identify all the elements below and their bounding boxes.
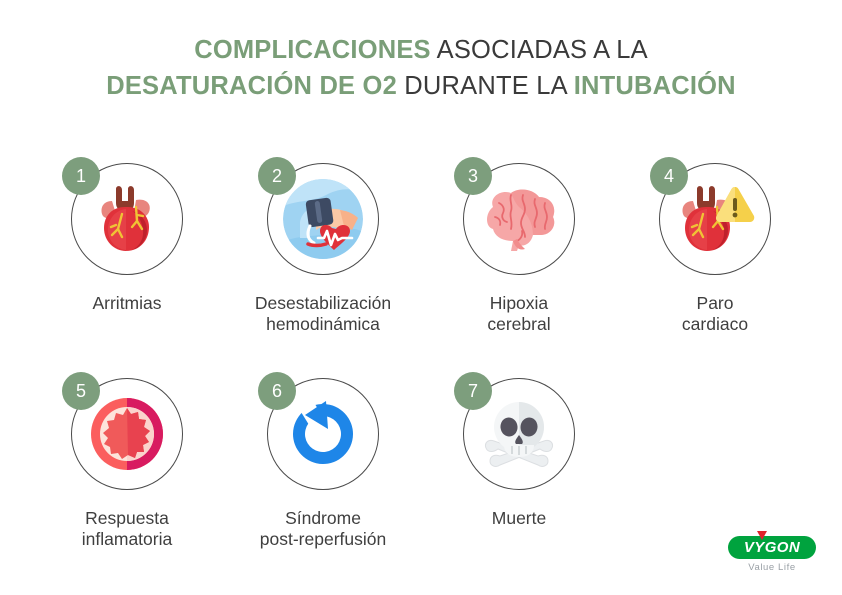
circle-wrap-5: 5 xyxy=(71,378,183,490)
number-badge-7: 7 xyxy=(454,372,492,410)
row-2-spacer xyxy=(617,378,813,550)
circle-wrap-2: 2 xyxy=(267,163,379,275)
complication-label-7: Muerte xyxy=(492,508,546,529)
logo-tagline: Value Life xyxy=(724,562,820,573)
number-badge-1: 1 xyxy=(62,157,100,195)
complication-label-1: Arritmias xyxy=(92,293,161,314)
complication-label-4: Paro cardiaco xyxy=(682,293,748,335)
number-badge-4: 4 xyxy=(650,157,688,195)
complication-row-2: 5 Respuesta inflamatoria 6 xyxy=(0,378,842,550)
complication-item-4: 4 xyxy=(617,163,813,335)
complication-label-5: Respuesta inflamatoria xyxy=(82,508,172,550)
logo-triangle-icon xyxy=(757,531,767,540)
number-badge-6: 6 xyxy=(258,372,296,410)
title-line-2: DESATURACIÓN DE O2 DURANTE LA INTUBACIÓN xyxy=(0,68,842,104)
complication-label-6: Síndrome post-reperfusión xyxy=(260,508,386,550)
title-plain-2: DURANTE LA xyxy=(397,72,574,100)
title-highlight-complicaciones: COMPLICACIONES xyxy=(194,36,431,64)
complication-label-2: Desestabilización hemodinámica xyxy=(255,293,391,335)
logo-pill: VYGON xyxy=(728,536,816,559)
complication-item-5: 5 Respuesta inflamatoria xyxy=(29,378,225,550)
number-badge-5: 5 xyxy=(62,372,100,410)
vygon-logo: VYGON Value Life xyxy=(724,536,820,573)
page-title: COMPLICACIONES ASOCIADAS A LA DESATURACI… xyxy=(0,32,842,104)
title-highlight-desaturacion: DESATURACIÓN DE O2 xyxy=(106,72,397,100)
complication-label-3: Hipoxia cerebral xyxy=(487,293,550,335)
complication-item-1: 1 Arritmias xyxy=(29,163,225,335)
circle-wrap-6: 6 xyxy=(267,378,379,490)
logo-wordmark: VYGON xyxy=(744,540,800,555)
circle-wrap-7: 7 xyxy=(463,378,575,490)
title-plain-1: ASOCIADAS A LA xyxy=(431,36,648,64)
circle-wrap-3: 3 xyxy=(463,163,575,275)
circle-wrap-4: 4 xyxy=(659,163,771,275)
complication-row-1: 1 Arritmias 2 xyxy=(0,163,842,335)
complication-item-3: 3 Hipoxia cer xyxy=(421,163,617,335)
complication-item-6: 6 Síndrome post-reperfusión xyxy=(225,378,421,550)
number-badge-2: 2 xyxy=(258,157,296,195)
title-line-1: COMPLICACIONES ASOCIADAS A LA xyxy=(0,32,842,68)
complication-item-2: 2 xyxy=(225,163,421,335)
title-highlight-intubacion: INTUBACIÓN xyxy=(574,72,736,100)
number-badge-3: 3 xyxy=(454,157,492,195)
circle-wrap-1: 1 xyxy=(71,163,183,275)
complication-item-7: 7 xyxy=(421,378,617,550)
